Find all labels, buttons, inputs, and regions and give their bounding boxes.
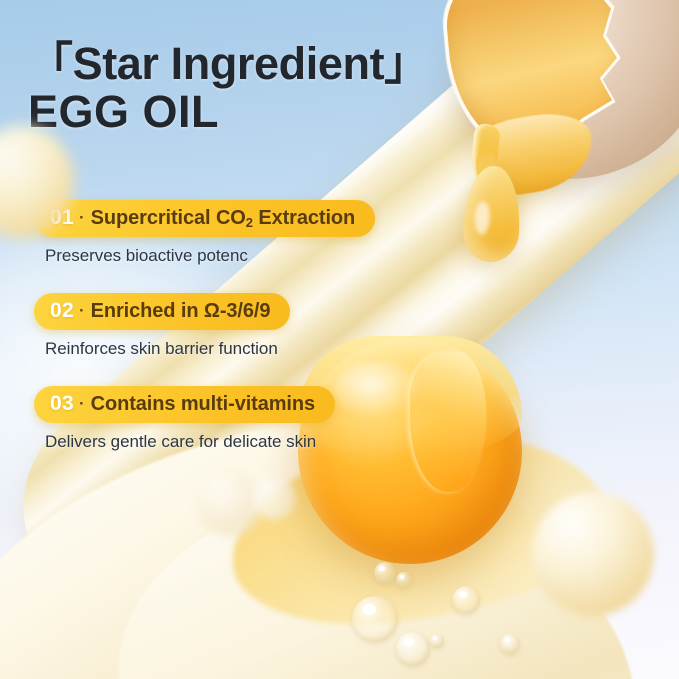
feature-badge-01[interactable]: 01 · Supercritical CO2 Extraction xyxy=(34,200,375,237)
bubble-2 xyxy=(396,632,430,666)
cream-pearl-right xyxy=(532,492,654,616)
feature-item-02: 02 · Enriched in Ω-3/6/9 Reinforces skin… xyxy=(34,293,454,359)
feature-label-01-after: Extraction xyxy=(253,207,355,229)
cream-pearl-small-2 xyxy=(252,476,296,520)
feature-label-02: Enriched in Ω-3/6/9 xyxy=(91,300,271,323)
feature-label-01-before: Supercritical CO xyxy=(91,207,246,229)
title-line-1: 「Star Ingredient」 xyxy=(28,38,429,89)
bubble-3 xyxy=(374,562,396,584)
feature-separator-03: · xyxy=(79,394,85,414)
feature-subtitle-02: Reinforces skin barrier function xyxy=(45,339,454,359)
feature-separator-01: · xyxy=(79,208,85,228)
feature-subtitle-01: Preserves bioactive potenc xyxy=(45,246,454,266)
feature-label-01-subscript: 2 xyxy=(246,215,253,230)
bubble-6 xyxy=(500,634,520,654)
feature-label-03: Contains multi-vitamins xyxy=(91,393,315,416)
feature-separator-02: · xyxy=(79,301,85,321)
feature-list: 01 · Supercritical CO2 Extraction Preser… xyxy=(34,200,454,479)
feature-number-02: 02 xyxy=(50,299,74,323)
bubble-1 xyxy=(352,596,398,642)
page-title: 「Star Ingredient」 EGG OIL xyxy=(28,40,429,136)
feature-item-03: 03 · Contains multi-vitamins Delivers ge… xyxy=(34,386,454,452)
bubble-4 xyxy=(396,572,412,588)
bubble-7 xyxy=(430,634,444,648)
feature-label-01: Supercritical CO2 Extraction xyxy=(91,207,356,230)
feature-badge-03[interactable]: 03 · Contains multi-vitamins xyxy=(34,386,335,423)
feature-label-02-before: Enriched in Ω-3/6/9 xyxy=(91,300,271,322)
feature-subtitle-03: Delivers gentle care for delicate skin xyxy=(45,432,454,452)
feature-number-03: 03 xyxy=(50,392,74,416)
feature-label-03-before: Contains multi-vitamins xyxy=(91,393,315,415)
poster-canvas: 「Star Ingredient」 EGG OIL 01 · Supercrit… xyxy=(0,0,679,679)
feature-badge-02[interactable]: 02 · Enriched in Ω-3/6/9 xyxy=(34,293,290,330)
feature-item-01: 01 · Supercritical CO2 Extraction Preser… xyxy=(34,200,454,266)
title-line-2: EGG OIL xyxy=(28,88,429,136)
bubble-5 xyxy=(452,586,480,614)
